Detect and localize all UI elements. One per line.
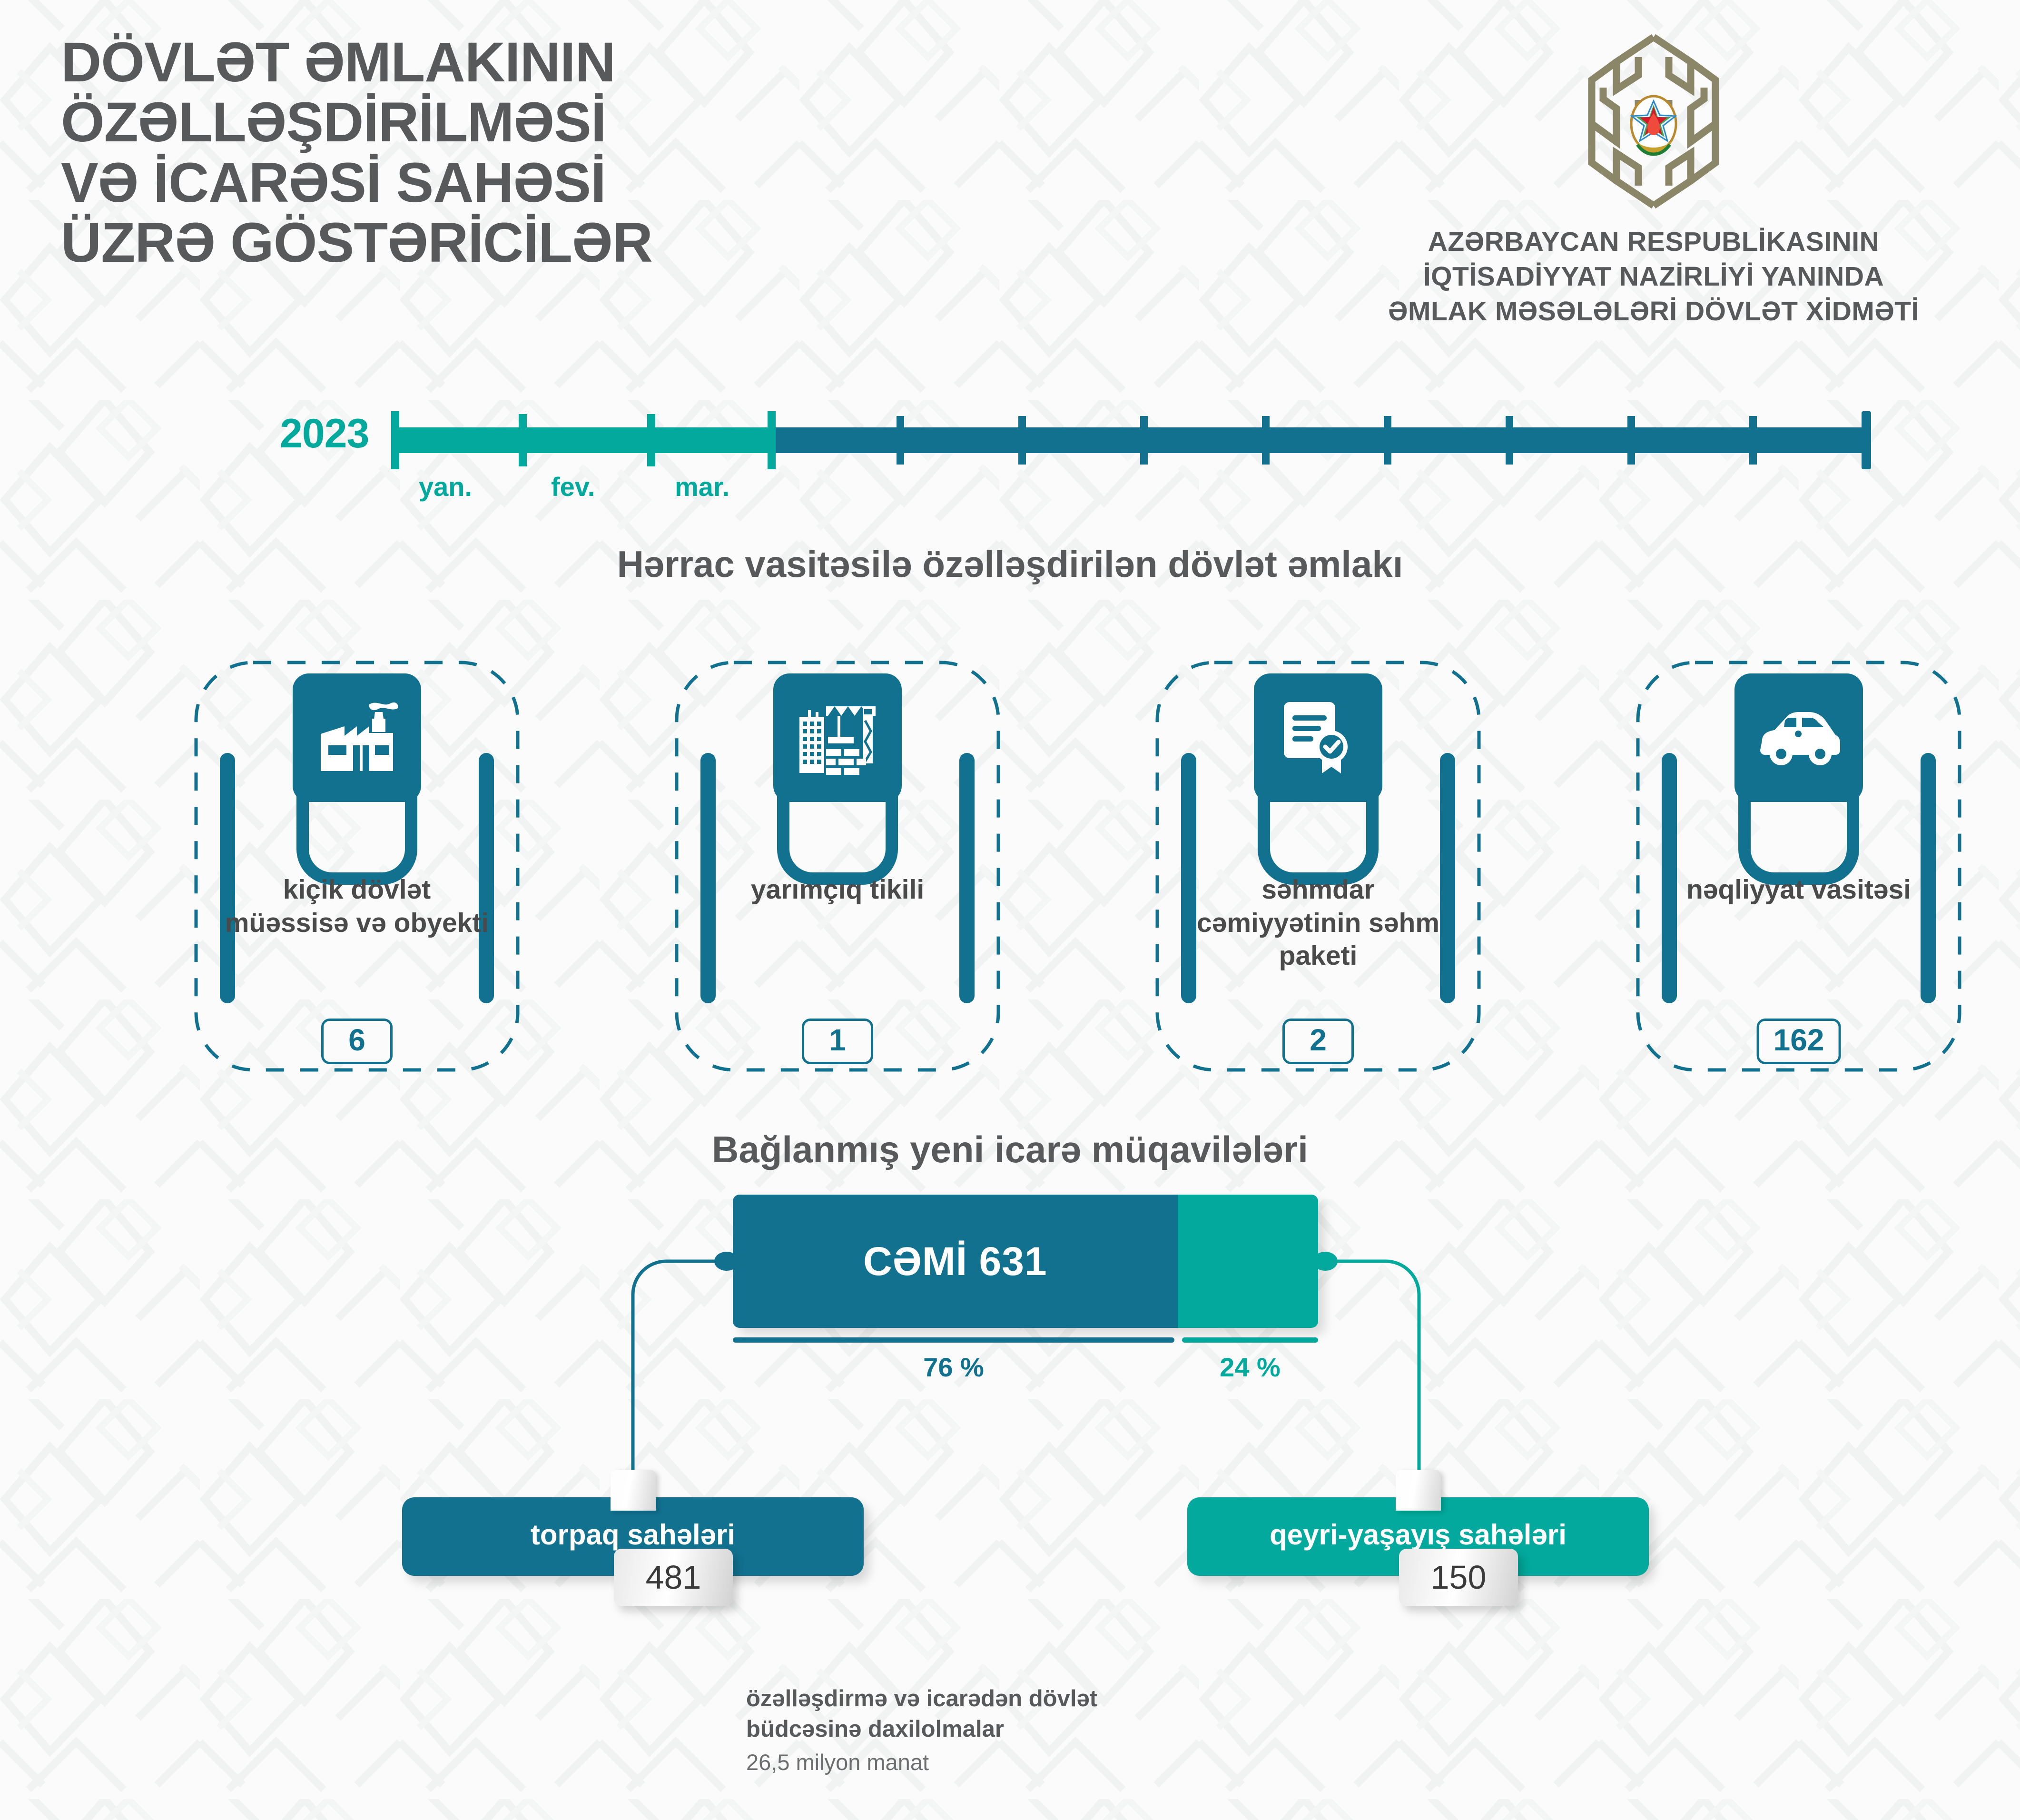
timeline-month-mar: mar. (675, 471, 729, 502)
card-neqliyyat-vasitesi[interactable]: nəqliyyat vasitəsi 162 (1632, 657, 1965, 1076)
title-line-3: VƏ İCARƏSİ SAHƏSİ (61, 153, 965, 213)
certificate-icon (1254, 673, 1382, 802)
card-value: 162 (1757, 1019, 1841, 1064)
pill-torpaq-saheleri[interactable]: torpaq sahələri 481 (402, 1497, 864, 1576)
title-line-2: ÖZƏLLƏŞDİRİLMƏSİ (61, 92, 965, 152)
timeline-track (0, 409, 2020, 471)
timeline-month-fev: fev. (551, 471, 595, 502)
card-value: 6 (321, 1019, 393, 1064)
card-sehmdar-cemiyyeti[interactable]: səhmdar cəmiyyətinin səhm paketi 2 (1152, 657, 1485, 1076)
title-line-4: ÜZRƏ GÖSTƏRİCİLƏR (61, 213, 965, 273)
title-line-1: DÖVLƏT ƏMLAKININ (61, 32, 965, 92)
footnote-line-3: 26,5 milyon manat (746, 1747, 1460, 1777)
azerbaijan-emblem-icon (1313, 29, 1994, 214)
organization-logo-block: AZƏRBAYCAN RESPUBLİKASININ İQTİSADİYYAT … (1313, 29, 1994, 329)
bar-connectors (0, 1190, 2020, 1533)
timeline-month-yan: yan. (419, 471, 472, 502)
footnote-line-2: büdcəsinə daxilolmalar (746, 1714, 1460, 1745)
org-line-2: İQTİSADİYYAT NAZİRLİYİ YANINDA (1313, 259, 1994, 294)
card-label: yarımçıq tikili (700, 873, 976, 907)
pill-value: 481 (614, 1549, 733, 1606)
footnote: özəlləşdirmə və icarədən dövlət büdcəsin… (746, 1684, 1460, 1778)
card-kicik-dovlet-muessise[interactable]: kiçik dövlət müəssisə və obyekti 6 (190, 657, 523, 1076)
page-title: DÖVLƏT ƏMLAKININ ÖZƏLLƏŞDİRİLMƏSİ VƏ İCA… (61, 32, 965, 273)
car-icon (1734, 673, 1863, 802)
section-heading-privatization: Hərrac vasitəsilə özəlləşdirilən dövlət … (0, 543, 2020, 586)
card-label: səhmdar cəmiyyətinin səhm paketi (1180, 873, 1456, 973)
privatization-cards: kiçik dövlət müəssisə və obyekti 6 (0, 657, 2020, 1076)
section-heading-lease: Bağlanmış yeni icarə müqavilələri (0, 1128, 2020, 1171)
card-label: nəqliyyat vasitəsi (1661, 873, 1937, 907)
org-line-1: AZƏRBAYCAN RESPUBLİKASININ (1313, 225, 1994, 259)
footnote-line-1: özəlləşdirmə və icarədən dövlət (746, 1684, 1460, 1714)
card-value: 1 (802, 1019, 873, 1064)
card-yarimciq-tikili[interactable]: yarımçıq tikili 1 (671, 657, 1004, 1076)
construction-icon (773, 673, 902, 802)
card-value: 2 (1282, 1019, 1354, 1064)
card-label: kiçik dövlət müəssisə və obyekti (219, 873, 495, 940)
pill-nub (611, 1470, 656, 1511)
pill-value: 150 (1399, 1549, 1518, 1606)
pill-qeyri-yasayis-saheleri[interactable]: qeyri-yaşayış sahələri 150 (1187, 1497, 1649, 1576)
timeline: 2023 (0, 409, 2020, 519)
pill-nub (1396, 1470, 1441, 1511)
header: DÖVLƏT ƏMLAKININ ÖZƏLLƏŞDİRİLMƏSİ VƏ İCA… (0, 0, 2020, 381)
factory-icon (293, 673, 421, 802)
org-line-3: ƏMLAK MƏSƏLƏLƏRİ DÖVLƏT XİDMƏTİ (1313, 294, 1994, 329)
organization-name: AZƏRBAYCAN RESPUBLİKASININ İQTİSADİYYAT … (1313, 225, 1994, 329)
